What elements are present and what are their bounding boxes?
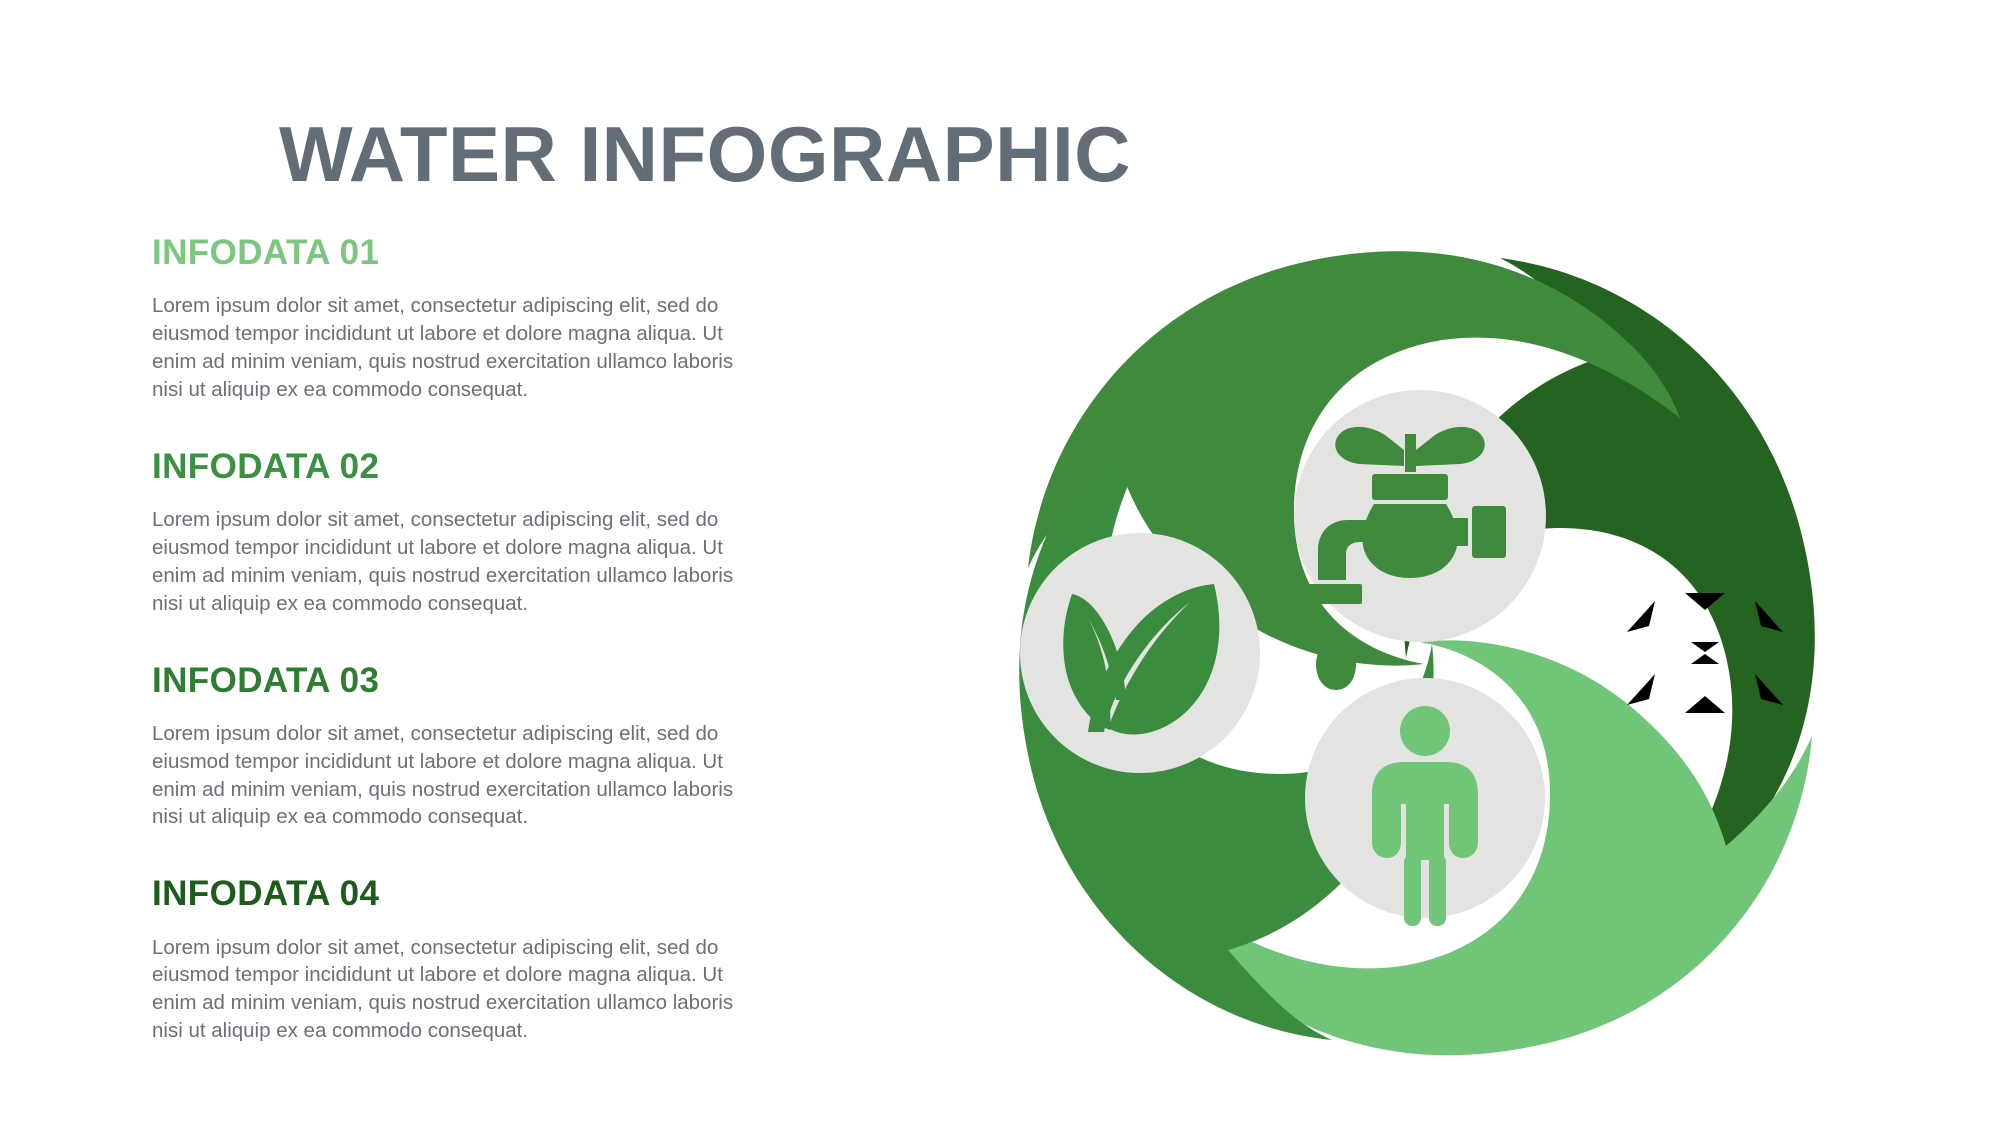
infodata-heading-03: INFODATA 03 (152, 661, 792, 701)
infodata-heading-04: INFODATA 04 (152, 874, 792, 914)
infodata-block-01: INFODATA 01 Lorem ipsum dolor sit amet, … (152, 233, 792, 404)
infodata-body-02: Lorem ipsum dolor sit amet, consectetur … (152, 506, 764, 618)
infodata-heading-02: INFODATA 02 (152, 447, 792, 487)
infodata-block-02: INFODATA 02 Lorem ipsum dolor sit amet, … (152, 447, 792, 618)
infodata-body-01: Lorem ipsum dolor sit amet, consectetur … (152, 292, 764, 404)
infodata-block-04: INFODATA 04 Lorem ipsum dolor sit amet, … (152, 874, 792, 1045)
infographic-page: WATER INFOGRAPHIC INFODATA 01 Lorem ipsu… (0, 0, 2000, 1125)
water-cycle-wheel (1000, 228, 1840, 1068)
badge-person[interactable] (1305, 678, 1545, 926)
infodata-block-03: INFODATA 03 Lorem ipsum dolor sit amet, … (152, 661, 792, 832)
infodata-body-04: Lorem ipsum dolor sit amet, consectetur … (152, 934, 764, 1046)
badge-leaf[interactable] (1020, 533, 1260, 773)
infodata-list: INFODATA 01 Lorem ipsum dolor sit amet, … (152, 233, 792, 1045)
infodata-heading-01: INFODATA 01 (152, 233, 792, 273)
badge-faucet[interactable] (1294, 390, 1546, 690)
page-title: WATER INFOGRAPHIC (0, 114, 1410, 196)
infodata-body-03: Lorem ipsum dolor sit amet, consectetur … (152, 720, 764, 832)
